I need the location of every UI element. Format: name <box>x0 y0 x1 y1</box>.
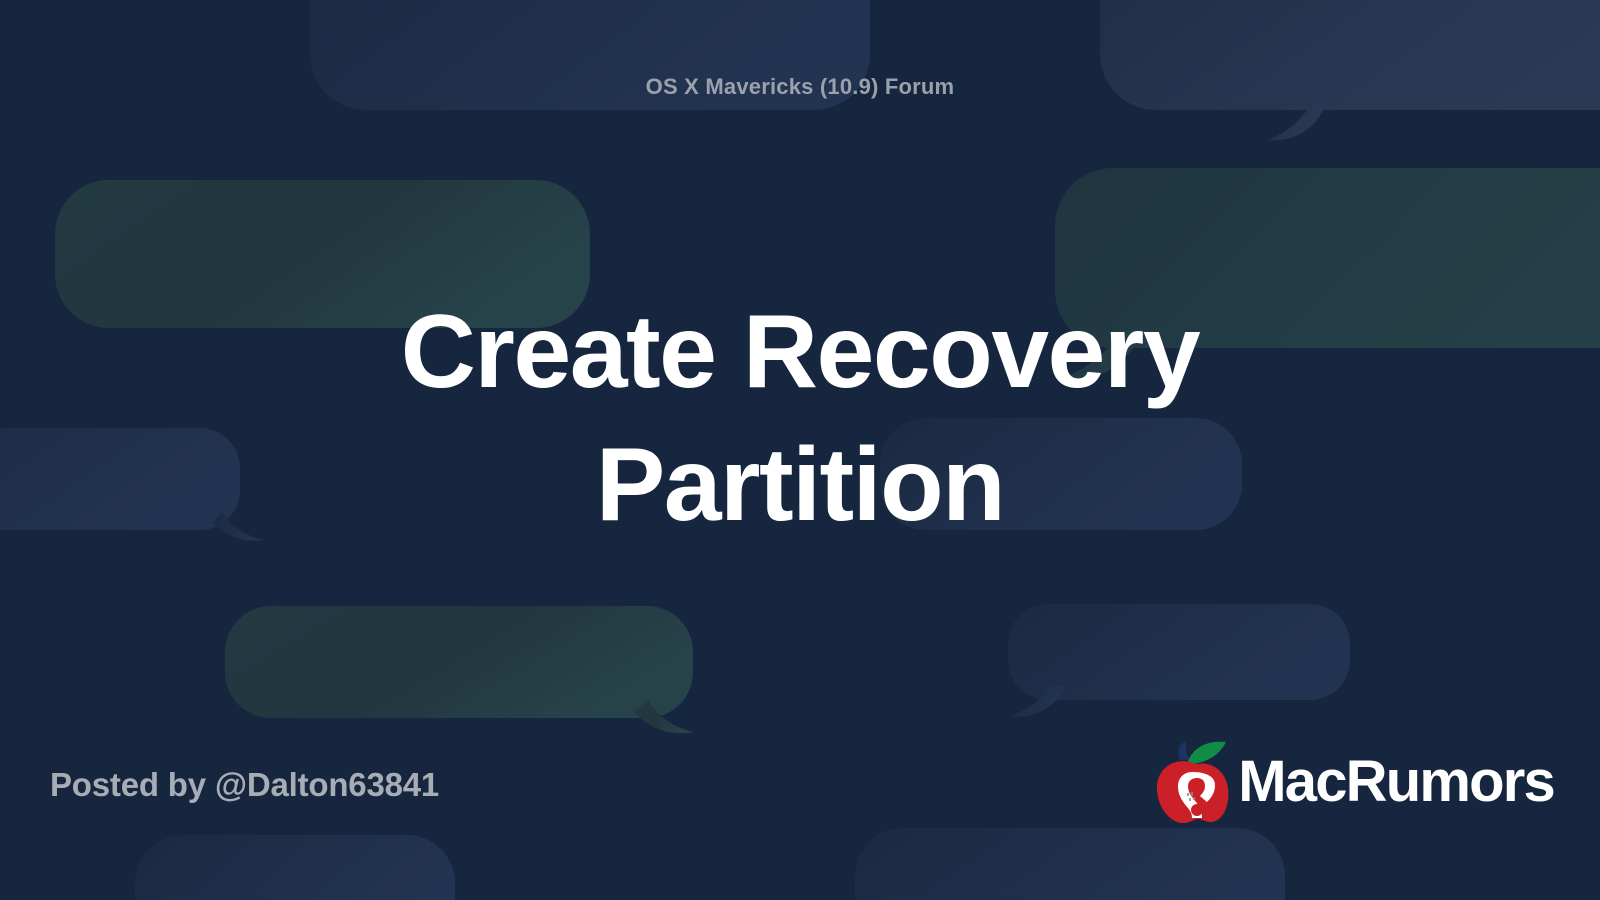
page-title: Create Recovery Partition <box>350 286 1250 552</box>
brand-name: MacRumors <box>1238 753 1554 811</box>
author-credit: Posted by @Dalton63841 <box>50 766 439 804</box>
macrumors-apple-question-mark-logo <box>1150 738 1232 826</box>
card-content: OS X Mavericks (10.9) Forum Create Recov… <box>0 0 1600 900</box>
title-container: Create Recovery Partition <box>0 286 1600 552</box>
social-share-card: OS X Mavericks (10.9) Forum Create Recov… <box>0 0 1600 900</box>
brand-lockup: MacRumors <box>1150 736 1554 828</box>
forum-label: OS X Mavericks (10.9) Forum <box>646 74 955 100</box>
